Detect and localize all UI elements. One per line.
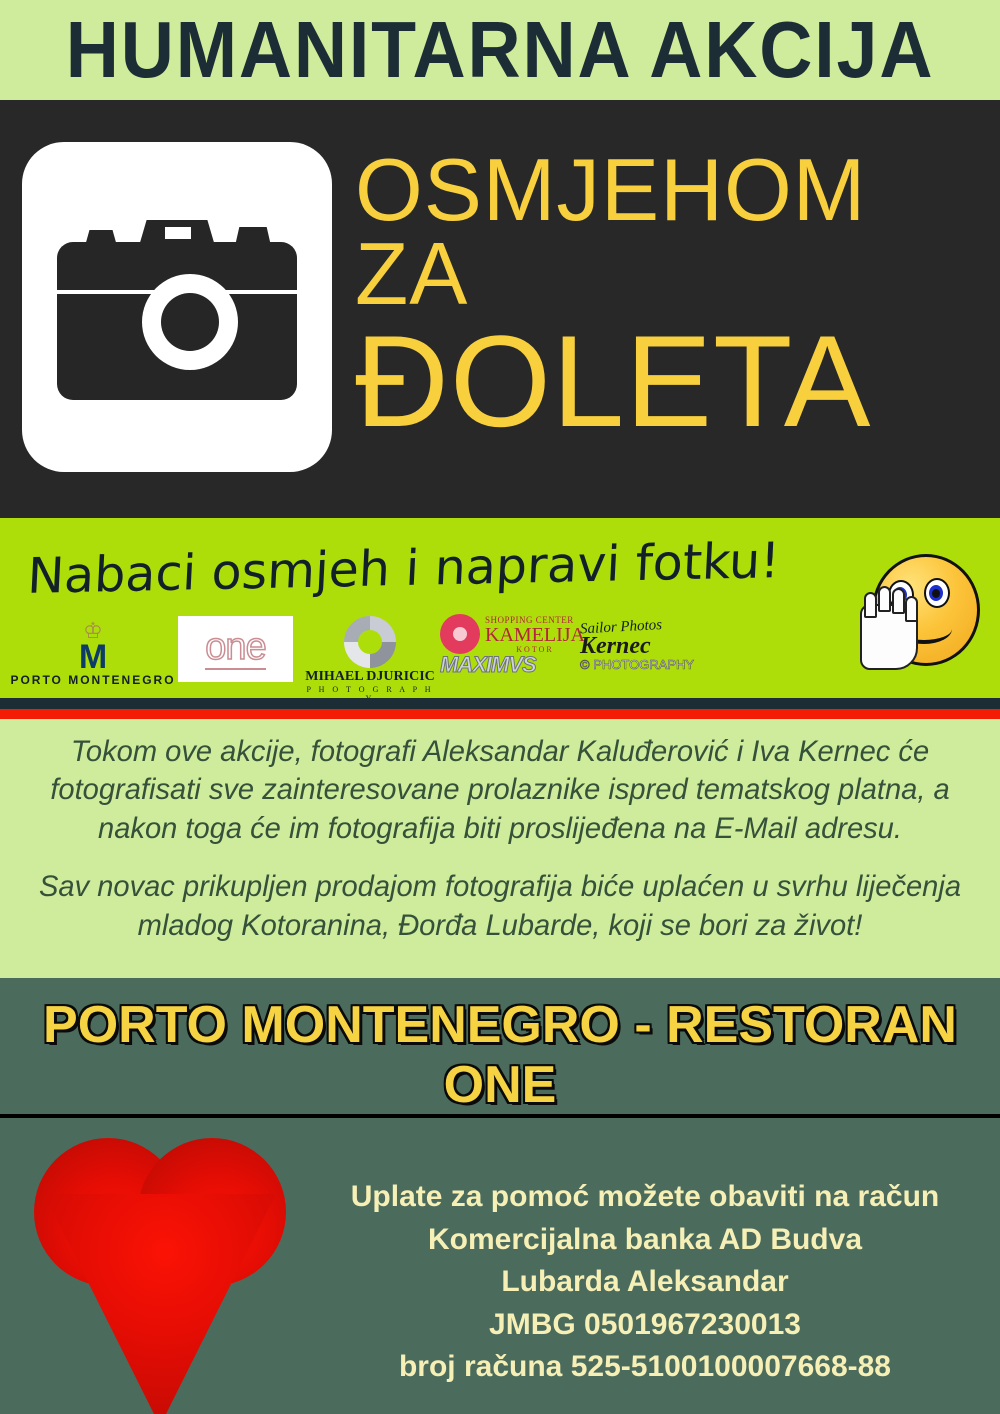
emoji-pupil-right [929, 585, 943, 601]
sponsor-logo-mihael-djuricic: MIHAEL DJURICIC P H O T O G R A P H Y [300, 616, 440, 703]
kamelija-row: SHOPPING CENTER KAMELIJA KOTOR [440, 614, 590, 654]
poster-header: HUMANITARNA AKCIJA [0, 0, 1000, 100]
kernec-name: Kernec [580, 634, 710, 658]
footer-section: Uplate za pomoć možete obaviti na račun … [0, 1118, 1000, 1414]
description-section: Tokom ove akcije, fotografi Aleksandar K… [0, 719, 1000, 978]
sponsor-logo-one: one [178, 616, 293, 682]
header-title: HUMANITARNA AKCIJA [66, 10, 935, 90]
bank-line-1: Uplate za pomoć možete obaviti na račun [300, 1176, 990, 1219]
bank-line-2: Komercijalna banka AD Budva [300, 1219, 990, 1262]
kamelija-line1: SHOPPING CENTER [485, 615, 585, 625]
main-title-line1: OSMJEHOM ZA [355, 148, 989, 317]
shutter-icon [344, 616, 396, 668]
sponsor-logo-porto-montenegro: ♔ M PORTO MONTENEGRO [8, 620, 178, 687]
bank-line-4: JMBG 0501967230013 [300, 1304, 990, 1347]
sponsor-logo-row: ♔ M PORTO MONTENEGRO one MIHAEL DJURICIC… [0, 614, 1000, 698]
divider-dark-stripe [0, 698, 1000, 709]
description-paragraph-1: Tokom ove akcije, fotografi Aleksandar K… [34, 733, 965, 848]
porto-montenegro-name: PORTO MONTENEGRO [8, 673, 178, 687]
emoji-finger [892, 588, 905, 614]
divider-red-stripe [0, 709, 1000, 719]
kamelija-line2: KAMELIJA [485, 625, 585, 645]
tagline-text: Nabaci osmjeh i napravi fotku! [26, 532, 781, 605]
camera-icon-card [22, 142, 332, 472]
title-block: OSMJEHOM ZA ĐOLETA [0, 100, 1000, 518]
kamelija-text: SHOPPING CENTER KAMELIJA KOTOR [485, 615, 585, 654]
kernec-sub: © PHOTOGRAPHY [580, 658, 710, 671]
heart-icon [34, 1134, 294, 1379]
camera-icon [57, 218, 297, 400]
bank-line-5: broj računa 525-5100100007668-88 [300, 1346, 990, 1389]
bank-details: Uplate za pomoć možete obaviti na račun … [300, 1176, 990, 1389]
venue-band: PORTO MONTENEGRO - RESTORAN ONE Nedjelja… [0, 978, 1000, 1114]
mihael-djuricic-name: MIHAEL DJURICIC [300, 669, 440, 685]
one-wordmark: one [205, 628, 265, 670]
maximus-wordmark: MAXIMVS [440, 652, 590, 678]
sponsor-logo-kamelija-maximus: SHOPPING CENTER KAMELIJA KOTOR MAXIMVS [440, 614, 590, 678]
description-paragraph-2: Sav novac prikupljen prodajom fotografij… [34, 868, 965, 945]
main-title-line2: ĐOLETA [355, 319, 995, 444]
poster-root: HUMANITARNA AKCIJA OSMJEHOM ZA ĐOLETA Na… [0, 0, 1000, 1414]
porto-montenegro-mark: M [8, 642, 178, 673]
heart-point [44, 1194, 276, 1414]
flower-icon [440, 614, 480, 654]
bank-line-3: Lubarda Aleksandar [300, 1261, 990, 1304]
emoji-finger [878, 586, 891, 612]
camera-lens-inner [161, 293, 219, 351]
camera-viewfinder-window [165, 227, 191, 239]
sponsor-logo-kernec-photography: Sailor Photos Kernec © PHOTOGRAPHY [580, 618, 710, 671]
venue-title: PORTO MONTENEGRO - RESTORAN ONE [0, 995, 1000, 1115]
main-title: OSMJEHOM ZA ĐOLETA [355, 148, 995, 444]
